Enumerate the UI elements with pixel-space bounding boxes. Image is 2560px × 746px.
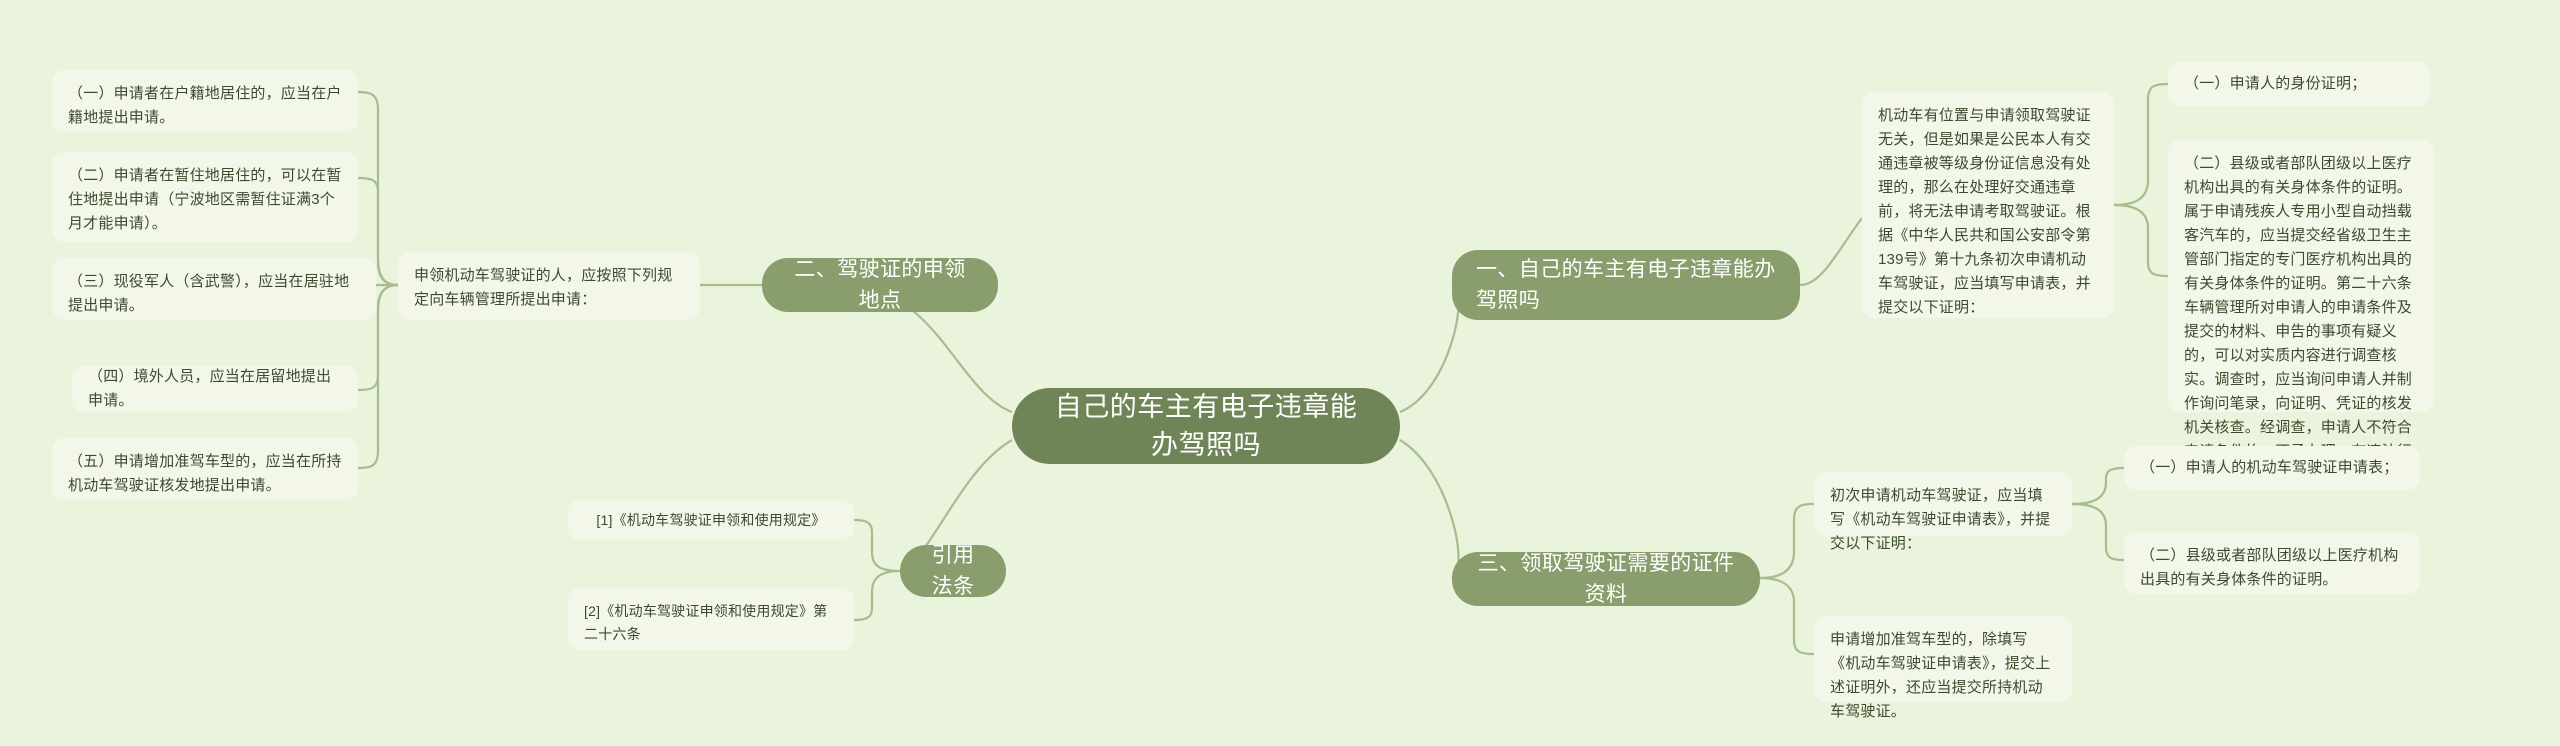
law-reference-one[interactable]: [1]《机动车驾驶证申领和使用规定》: [568, 500, 854, 540]
branch-three-proof-two[interactable]: （二）县级或者部队团级以上医疗机构出具的有关身体条件的证明。: [2124, 532, 2420, 594]
edge-branch1-detail: [1800, 218, 1862, 285]
edge-b3-proof2: [2072, 504, 2124, 560]
branch-two-item-three[interactable]: （三）现役军人（含武警），应当在居驻地提出申请。: [52, 258, 376, 320]
branch-two-item-five[interactable]: （五）申请增加准驾车型的，应当在所持机动车驾驶证核发地提出申请。: [52, 438, 358, 500]
law-reference-two-text: [2]《机动车驾驶证申领和使用规定》第二十六条: [584, 600, 838, 646]
branch-two-item-three-text: （三）现役军人（含武警），应当在居驻地提出申请。: [68, 270, 360, 318]
edge-root-branch1: [1400, 285, 1459, 412]
branch-node-four-label: 引用法条: [924, 540, 982, 602]
branch-one-proof-one[interactable]: （一）申请人的身份证明；: [2168, 62, 2430, 106]
edge-b3-detail2: [1760, 578, 1814, 654]
branch-two-item-one-text: （一）申请者在户籍地居住的，应当在户籍地提出申请。: [68, 82, 342, 130]
law-reference-two[interactable]: [2]《机动车驾驶证申领和使用规定》第二十六条: [568, 588, 854, 650]
edge-b3-detail1: [1760, 504, 1814, 578]
branch-two-item-five-text: （五）申请增加准驾车型的，应当在所持机动车驾驶证核发地提出申请。: [68, 450, 342, 498]
branch-three-detail-one[interactable]: 初次申请机动车驾驶证，应当填写《机动车驾驶证申请表》，并提交以下证明：: [1814, 472, 2072, 536]
branch-three-proof-two-text: （二）县级或者部队团级以上医疗机构出具的有关身体条件的证明。: [2140, 544, 2404, 592]
branch-two-item-one[interactable]: （一）申请者在户籍地居住的，应当在户籍地提出申请。: [52, 70, 358, 132]
branch-two-item-four[interactable]: （四）境外人员，应当在居留地提出申请。: [72, 366, 358, 412]
law-reference-one-text: [1]《机动车驾驶证申领和使用规定》: [584, 509, 838, 532]
edge-b1-proof1: [2114, 84, 2168, 205]
edge-b2-item1: [358, 92, 398, 285]
branch-two-item-two-text: （二）申请者在暂住地居住的，可以在暂住地提出申请（宁波地区需暂住证满3个月才能申…: [68, 164, 342, 236]
branch-one-proof-two-text: （二）县级或者部队团级以上医疗机构出具的有关身体条件的证明。属于申请残疾人专用小…: [2184, 152, 2418, 488]
branch-two-item-four-text: （四）境外人员，应当在居留地提出申请。: [88, 365, 342, 413]
branch-node-three[interactable]: 三、领取驾驶证需要的证件资料: [1452, 552, 1760, 606]
root-node-label: 自己的车主有电子违章能办驾照吗: [1046, 388, 1366, 464]
root-node[interactable]: 自己的车主有电子违章能办驾照吗: [1012, 388, 1400, 464]
branch-two-detail-text: 申领机动车驾驶证的人，应按照下列规定向车辆管理所提出申请：: [414, 264, 684, 312]
edge-b1-proof2: [2114, 205, 2168, 276]
branch-node-three-label: 三、领取驾驶证需要的证件资料: [1476, 548, 1736, 610]
branch-two-detail[interactable]: 申领机动车驾驶证的人，应按照下列规定向车辆管理所提出申请：: [398, 252, 700, 320]
mindmap-canvas: 自己的车主有电子违章能办驾照吗 一、自己的车主有电子违章能办驾照吗 机动车有位置…: [0, 0, 2560, 746]
branch-three-detail-two-text: 申请增加准驾车型的，除填写《机动车驾驶证申请表》，提交上述证明外，还应当提交所持…: [1830, 628, 2056, 724]
branch-node-four[interactable]: 引用法条: [900, 545, 1006, 597]
branch-one-proof-one-text: （一）申请人的身份证明；: [2184, 72, 2414, 96]
branch-one-detail-text: 机动车有位置与申请领取驾驶证无关，但是如果是公民本人有交通违章被等级身份证信息没…: [1878, 104, 2098, 320]
branch-node-one-label: 一、自己的车主有电子违章能办驾照吗: [1476, 254, 1776, 316]
edge-b4-law2: [854, 571, 900, 620]
branch-three-detail-one-text: 初次申请机动车驾驶证，应当填写《机动车驾驶证申请表》，并提交以下证明：: [1830, 484, 2056, 556]
edge-b4-law1: [854, 520, 900, 571]
edge-b3-proof1: [2072, 468, 2124, 504]
branch-three-proof-one-text: （一）申请人的机动车驾驶证申请表；: [2140, 456, 2404, 480]
branch-node-two[interactable]: 二、驾驶证的申领地点: [762, 258, 998, 312]
branch-three-detail-two[interactable]: 申请增加准驾车型的，除填写《机动车驾驶证申请表》，提交上述证明外，还应当提交所持…: [1814, 616, 2072, 702]
branch-one-detail[interactable]: 机动车有位置与申请领取驾驶证无关，但是如果是公民本人有交通违章被等级身份证信息没…: [1862, 92, 2114, 318]
branch-two-item-two[interactable]: （二）申请者在暂住地居住的，可以在暂住地提出申请（宁波地区需暂住证满3个月才能申…: [52, 152, 358, 242]
branch-node-two-label: 二、驾驶证的申领地点: [786, 254, 974, 316]
edge-root-branch3: [1400, 440, 1459, 578]
branch-one-proof-two[interactable]: （二）县级或者部队团级以上医疗机构出具的有关身体条件的证明。属于申请残疾人专用小…: [2168, 140, 2434, 412]
branch-node-one[interactable]: 一、自己的车主有电子违章能办驾照吗: [1452, 250, 1800, 320]
branch-three-proof-one[interactable]: （一）申请人的机动车驾驶证申请表；: [2124, 446, 2420, 490]
